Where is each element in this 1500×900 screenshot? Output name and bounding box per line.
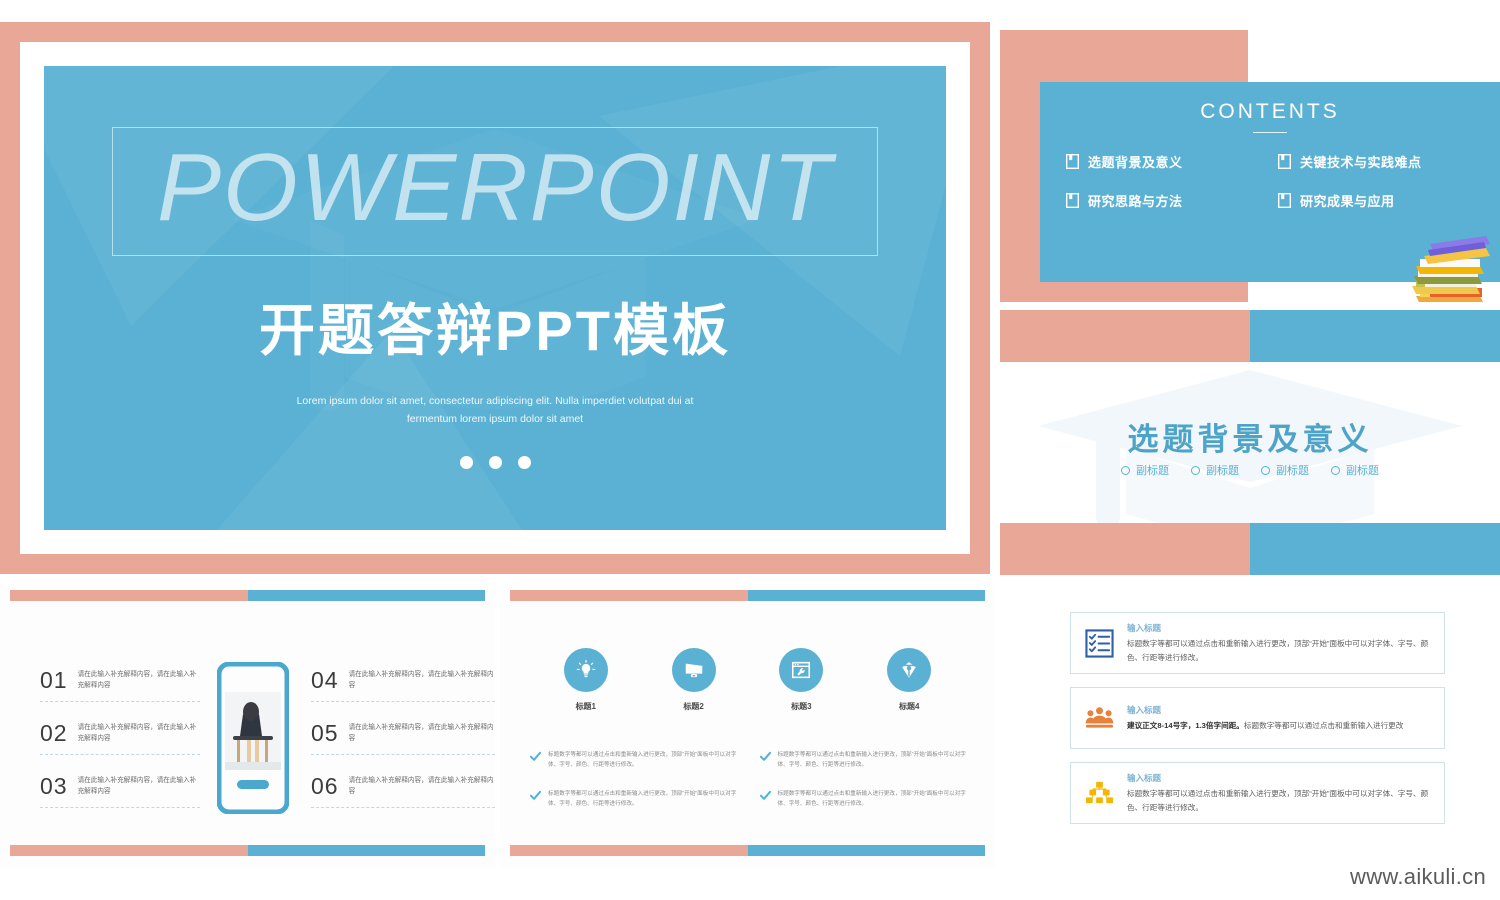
card-text-rest: 标题数字等都可以通过点击和重新输入进行更改 xyxy=(1244,721,1403,730)
number-text: 请在此输入补充解释内容，请在此输入补充解释内容 xyxy=(78,669,200,691)
card-body: 输入标题 建议正文8-14号字，1.3倍字间距。标题数字等都可以通过点击和重新输… xyxy=(1127,704,1403,732)
bar-coral-segment xyxy=(510,845,748,856)
checklist-icon xyxy=(1085,629,1114,658)
people-group-icon xyxy=(1085,704,1114,733)
contents-divider xyxy=(1253,132,1287,133)
check-icon xyxy=(530,790,541,801)
dot-1 xyxy=(460,456,473,469)
section-subitem-label: 副标题 xyxy=(1206,462,1239,478)
bar-blue-segment xyxy=(748,845,986,856)
slide-contents[interactable]: CONTENTS 选题背景及意义 关键技术与实践难点 xyxy=(1000,30,1500,302)
number-row[interactable]: 03 请在此输入补充解释内容，请在此输入补充解释内容 xyxy=(40,775,200,808)
number-label: 05 xyxy=(311,722,339,745)
pyramid-blocks-icon xyxy=(1085,779,1114,808)
number-row[interactable]: 06 请在此输入补充解释内容，请在此输入补充解释内容 xyxy=(311,775,495,808)
slide-title-cover[interactable]: POWERPOINT 开题答辩PPT模板 Lorem ipsum dolor s… xyxy=(0,22,990,574)
check-icon xyxy=(760,790,771,801)
number-text: 请在此输入补充解释内容，请在此输入补充解释内容 xyxy=(78,775,200,797)
number-columns: 01 请在此输入补充解释内容，请在此输入补充解释内容 02 请在此输入补充解释内… xyxy=(0,638,495,838)
icon-circle xyxy=(672,648,716,692)
contents-item-1[interactable]: 选题背景及意义 xyxy=(1066,152,1274,171)
card-body: 输入标题 标题数字等都可以通过点击和重新输入进行更改，顶部“开始”面板中可以对字… xyxy=(1127,772,1430,814)
section-top-coral-bar xyxy=(1000,310,1250,362)
check-item: 标题数字等都可以通过点击和重新输入进行更改，顶部“开始”面板中可以对字体、字号、… xyxy=(530,789,742,810)
section-subitem-label: 副标题 xyxy=(1346,462,1379,478)
number-text: 请在此输入补充解释内容，请在此输入补充解释内容 xyxy=(349,669,495,691)
circle-marker-icon xyxy=(1261,466,1270,475)
check-item: 标题数字等都可以通过点击和重新输入进行更改，顶部“开始”面板中可以对字体、字号、… xyxy=(530,750,742,771)
book-stack-icon xyxy=(1394,228,1490,302)
number-text: 请在此输入补充解释内容，请在此输入补充解释内容 xyxy=(349,722,495,744)
icon-caption: 标题3 xyxy=(791,701,811,712)
number-row[interactable]: 05 请在此输入补充解释内容，请在此输入补充解释内容 xyxy=(311,722,495,755)
icon-caption: 标题4 xyxy=(899,701,919,712)
card-body: 输入标题 标题数字等都可以通过点击和重新输入进行更改，顶部“开始”面板中可以对字… xyxy=(1127,622,1430,664)
bar-blue-segment xyxy=(248,845,486,856)
check-icon xyxy=(760,751,771,762)
pen-nib-icon xyxy=(898,659,920,681)
section-bottom-blue-bar xyxy=(1250,523,1500,575)
number-text: 请在此输入补充解释内容，请在此输入补充解释内容 xyxy=(349,775,495,797)
number-label: 01 xyxy=(40,669,68,692)
icon-cell-1[interactable]: 标题1 xyxy=(564,648,608,712)
bar-coral-segment xyxy=(10,590,248,601)
check-item: 标题数字等都可以通过点击和重新输入进行更改，顶部“开始”面板中可以对字体、字号、… xyxy=(760,750,972,771)
contents-item-label: 研究思路与方法 xyxy=(1088,191,1183,210)
contents-item-2[interactable]: 关键技术与实践难点 xyxy=(1278,152,1486,171)
circle-marker-icon xyxy=(1331,466,1340,475)
slide-section-divider[interactable]: 选题背景及意义 副标题 副标题 副标题 副标题 xyxy=(1000,310,1500,575)
chinese-title: 开题答辩PPT模板 xyxy=(259,286,731,367)
card-text-bold: 建议正文8-14号字，1.3倍字间距。 xyxy=(1127,721,1244,730)
dot-3 xyxy=(518,456,531,469)
icons-bottom-bar xyxy=(510,845,985,856)
slide-icon-features[interactable]: 标题1 标题2 xyxy=(500,590,995,868)
window-wrench-icon xyxy=(790,659,812,681)
section-bottom-coral-bar xyxy=(1000,523,1250,575)
number-column-left: 01 请在此输入补充解释内容，请在此输入补充解释内容 02 请在此输入补充解释内… xyxy=(0,669,200,808)
dot-indicator xyxy=(460,456,531,469)
slide-info-cards[interactable]: 输入标题 标题数字等都可以通过点击和重新输入进行更改，顶部“开始”面板中可以对字… xyxy=(1000,590,1500,868)
section-subitems: 副标题 副标题 副标题 副标题 xyxy=(1000,462,1500,478)
numbers-top-bar xyxy=(10,590,485,601)
icons-top-bar xyxy=(510,590,985,601)
number-label: 06 xyxy=(311,775,339,798)
check-item: 标题数字等都可以通过点击和重新输入进行更改，顶部“开始”面板中可以对字体、字号、… xyxy=(760,789,972,810)
icon-caption: 标题2 xyxy=(683,701,703,712)
number-label: 04 xyxy=(311,669,339,692)
icon-circle xyxy=(564,648,608,692)
bar-coral-segment xyxy=(510,590,748,601)
number-label: 03 xyxy=(40,775,68,798)
section-title: 选题背景及意义 xyxy=(1000,414,1500,459)
bar-coral-segment xyxy=(10,845,248,856)
section-subitem[interactable]: 副标题 xyxy=(1261,462,1309,478)
site-watermark: www.aikuli.cn xyxy=(1350,864,1486,890)
bar-blue-segment xyxy=(248,590,486,601)
title-white-frame: POWERPOINT 开题答辩PPT模板 Lorem ipsum dolor s… xyxy=(20,42,970,554)
card-title: 输入标题 xyxy=(1127,772,1430,784)
dot-2 xyxy=(489,456,502,469)
phone-mockup-icon xyxy=(217,662,289,814)
info-card-1[interactable]: 输入标题 标题数字等都可以通过点击和重新输入进行更改，顶部“开始”面板中可以对字… xyxy=(1070,612,1445,674)
book-icon xyxy=(1278,154,1291,169)
lightbulb-icon xyxy=(575,659,597,681)
section-subitem-label: 副标题 xyxy=(1276,462,1309,478)
icon-cell-2[interactable]: 标题2 xyxy=(672,648,716,712)
section-subitem[interactable]: 副标题 xyxy=(1331,462,1379,478)
info-card-3[interactable]: 输入标题 标题数字等都可以通过点击和重新输入进行更改，顶部“开始”面板中可以对字… xyxy=(1070,762,1445,824)
book-icon xyxy=(1066,193,1079,208)
check-icon xyxy=(530,751,541,762)
info-card-2[interactable]: 输入标题 建议正文8-14号字，1.3倍字间距。标题数字等都可以通过点击和重新输… xyxy=(1070,687,1445,749)
number-column-right: 04 请在此输入补充解释内容，请在此输入补充解释内容 05 请在此输入补充解释内… xyxy=(305,669,495,808)
check-text: 标题数字等都可以通过点击和重新输入进行更改，顶部“开始”面板中可以对字体、字号、… xyxy=(778,789,972,810)
title-blue-stage: POWERPOINT 开题答辩PPT模板 Lorem ipsum dolor s… xyxy=(44,66,946,530)
contents-list: 选题背景及意义 关键技术与实践难点 研究思路与方法 xyxy=(1066,152,1486,210)
card-text: 标题数字等都可以通过点击和重新输入进行更改，顶部“开始”面板中可以对字体、字号、… xyxy=(1127,787,1430,814)
contents-item-4[interactable]: 研究成果与应用 xyxy=(1278,191,1486,210)
number-row[interactable]: 02 请在此输入补充解释内容，请在此输入补充解释内容 xyxy=(40,722,200,755)
icon-row: 标题1 标题2 xyxy=(500,648,995,712)
number-row[interactable]: 04 请在此输入补充解释内容，请在此输入补充解释内容 xyxy=(311,669,495,702)
check-text: 标题数字等都可以通过点击和重新输入进行更改，顶部“开始”面板中可以对字体、字号、… xyxy=(548,750,742,771)
card-text: 标题数字等都可以通过点击和重新输入进行更改，顶部“开始”面板中可以对字体、字号、… xyxy=(1127,637,1430,664)
card-title: 输入标题 xyxy=(1127,622,1430,634)
check-text: 标题数字等都可以通过点击和重新输入进行更改，顶部“开始”面板中可以对字体、字号、… xyxy=(778,750,972,771)
book-icon xyxy=(1278,193,1291,208)
section-subitem-label: 副标题 xyxy=(1136,462,1169,478)
checklist-grid: 标题数字等都可以通过点击和重新输入进行更改，顶部“开始”面板中可以对字体、字号、… xyxy=(530,750,971,809)
section-top-blue-bar xyxy=(1250,310,1500,362)
check-text: 标题数字等都可以通过点击和重新输入进行更改，顶部“开始”面板中可以对字体、字号、… xyxy=(548,789,742,810)
circle-marker-icon xyxy=(1191,466,1200,475)
ppt-template-preview-grid: POWERPOINT 开题答辩PPT模板 Lorem ipsum dolor s… xyxy=(0,0,1500,900)
contents-item-label: 关键技术与实践难点 xyxy=(1300,152,1422,171)
powerpoint-title-box: POWERPOINT xyxy=(112,127,878,257)
powerpoint-word: POWERPOINT xyxy=(157,134,833,242)
contents-item-label: 研究成果与应用 xyxy=(1300,191,1395,210)
slide-number-list[interactable]: 01 请在此输入补充解释内容，请在此输入补充解释内容 02 请在此输入补充解释内… xyxy=(0,590,495,868)
circle-marker-icon xyxy=(1121,466,1130,475)
contents-item-label: 选题背景及意义 xyxy=(1088,152,1183,171)
presentation-board-icon xyxy=(683,659,705,681)
number-text: 请在此输入补充解释内容，请在此输入补充解释内容 xyxy=(78,722,200,744)
numbers-bottom-bar xyxy=(10,845,485,856)
card-text: 建议正文8-14号字，1.3倍字间距。标题数字等都可以通过点击和重新输入进行更改 xyxy=(1127,719,1403,732)
book-icon xyxy=(1066,154,1079,169)
section-subitem[interactable]: 副标题 xyxy=(1191,462,1239,478)
icon-cell-4[interactable]: 标题4 xyxy=(887,648,931,712)
bar-blue-segment xyxy=(748,590,986,601)
card-title: 输入标题 xyxy=(1127,704,1403,716)
contents-item-3[interactable]: 研究思路与方法 xyxy=(1066,191,1274,210)
icon-circle xyxy=(779,648,823,692)
icon-cell-3[interactable]: 标题3 xyxy=(779,648,823,712)
number-label: 02 xyxy=(40,722,68,745)
section-subitem[interactable]: 副标题 xyxy=(1121,462,1169,478)
icon-circle xyxy=(887,648,931,692)
contents-heading: CONTENTS xyxy=(1040,100,1500,124)
number-row[interactable]: 01 请在此输入补充解释内容，请在此输入补充解释内容 xyxy=(40,669,200,702)
icon-caption: 标题1 xyxy=(576,701,596,712)
lorem-subtitle: Lorem ipsum dolor sit amet, consectetur … xyxy=(285,393,705,428)
